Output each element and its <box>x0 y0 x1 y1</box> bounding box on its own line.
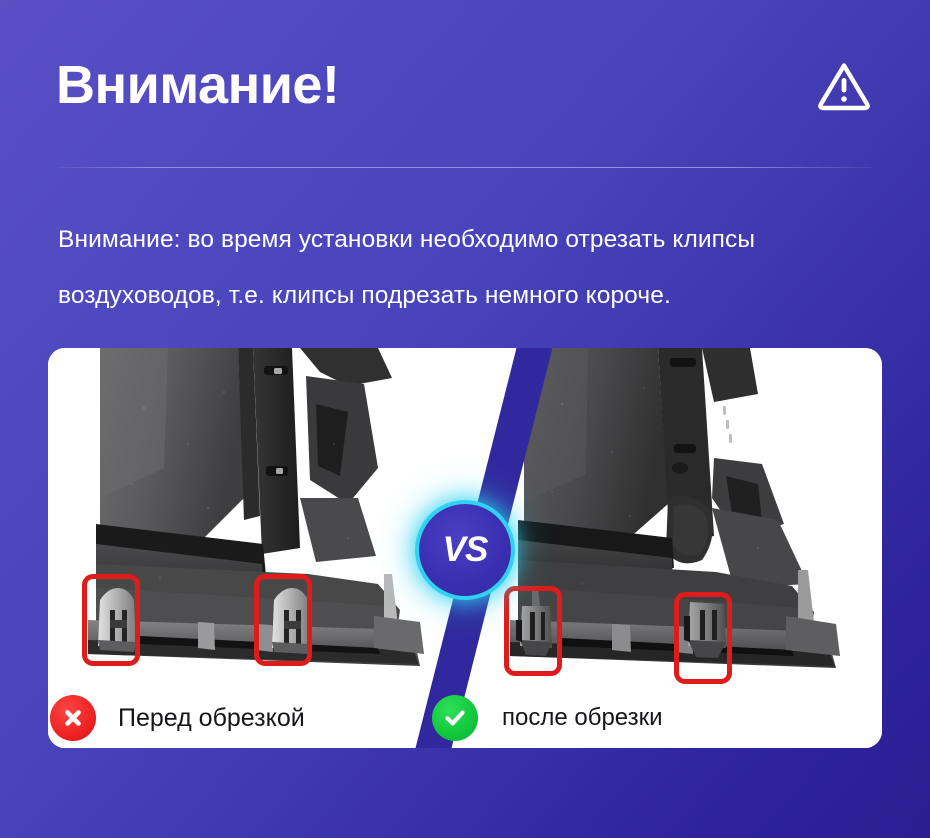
vs-label: VS <box>443 530 488 570</box>
vs-badge: VS <box>419 504 511 596</box>
photo-after-trim <box>462 348 882 748</box>
air-duct-part-after-illustration <box>462 348 882 748</box>
warning-triangle-icon <box>816 60 872 112</box>
clip-highlight-box <box>674 592 732 684</box>
clip-highlight-box <box>82 574 140 666</box>
air-duct-part-before-illustration <box>48 348 468 748</box>
photo-before-trim <box>48 348 468 748</box>
status-before-trim: Перед обрезкой <box>50 695 305 741</box>
warning-infographic-page: Внимание! Внимание: во время установки н… <box>0 0 930 838</box>
header-divider <box>58 167 872 168</box>
check-icon <box>432 695 478 741</box>
status-after-label: после обрезки <box>502 704 663 732</box>
cross-icon <box>50 695 96 741</box>
page-title: Внимание! <box>56 58 339 112</box>
status-before-label: Перед обрезкой <box>118 704 305 733</box>
warning-body-text: Внимание: во время установки необходимо … <box>58 212 878 324</box>
clip-highlight-box <box>504 586 562 676</box>
clip-highlight-box <box>254 574 312 666</box>
status-after-trim: после обрезки <box>432 695 663 741</box>
